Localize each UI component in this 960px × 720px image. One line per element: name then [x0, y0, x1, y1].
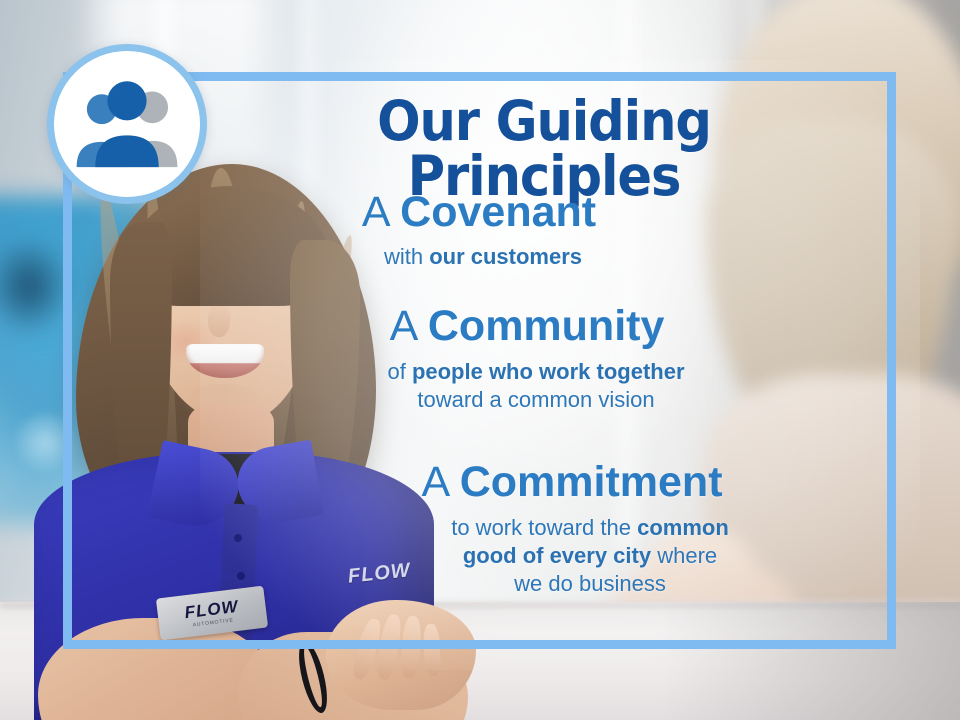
people-group-icon-badge	[47, 44, 207, 204]
background-mullion	[610, 0, 644, 550]
polo-button	[237, 572, 245, 580]
polo-button	[234, 534, 242, 542]
employee-nose	[208, 303, 230, 337]
desk-shadow	[660, 602, 960, 720]
people-group-icon	[71, 70, 183, 182]
banner-graphic: FLOW AUTOMOTIVE FLOW Our Guiding Princip…	[0, 0, 960, 720]
employee-portrait: FLOW AUTOMOTIVE FLOW	[58, 148, 478, 688]
